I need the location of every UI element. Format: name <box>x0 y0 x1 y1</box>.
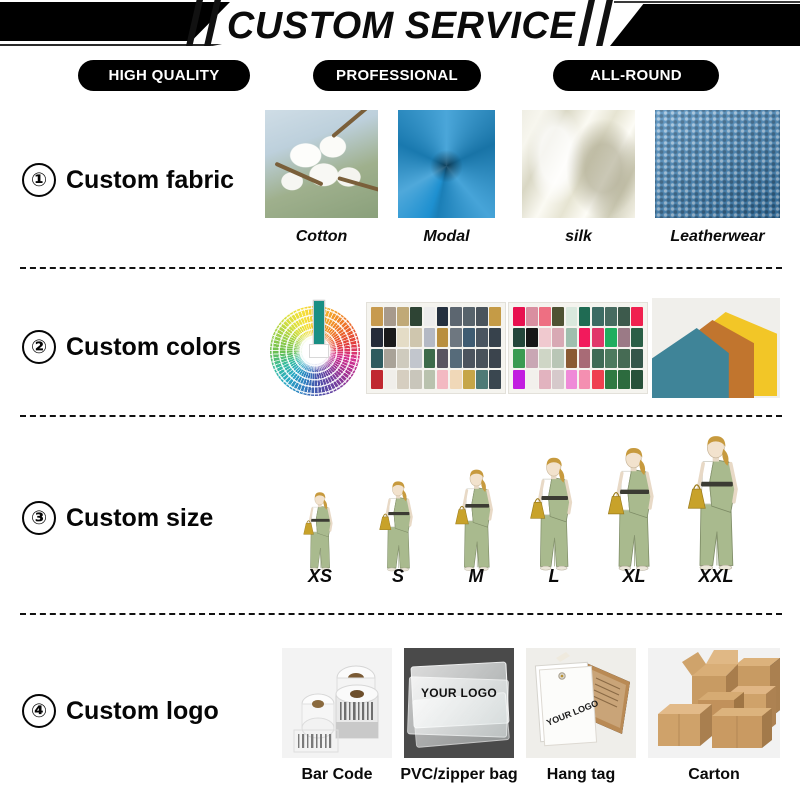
color-swatch <box>579 349 591 368</box>
color-swatch <box>371 328 383 347</box>
color-swatch <box>592 328 604 347</box>
size-caption-l: L <box>514 566 594 587</box>
color-swatch <box>476 328 488 347</box>
color-swatch <box>384 307 396 326</box>
size-caption-xxl: XXL <box>676 566 756 587</box>
size-caption-s: S <box>358 566 438 587</box>
color-swatch <box>539 349 551 368</box>
carton-boxes-illustration <box>648 648 780 758</box>
color-swatch <box>437 370 449 389</box>
logo-image-hang-tag: YOUR LOGO <box>526 648 636 758</box>
color-swatch <box>579 307 591 326</box>
row-number-1: ① <box>22 163 56 197</box>
color-swatch <box>397 349 409 368</box>
size-figure-m <box>438 468 515 572</box>
size-figure-s <box>364 480 432 572</box>
row-label-custom-logo: ④ Custom logo <box>22 694 219 728</box>
row-number-2: ② <box>22 330 56 364</box>
color-swatch <box>476 370 488 389</box>
color-swatch <box>384 349 396 368</box>
infographic-page: CUSTOM SERVICE HIGH QUALITY PROFESSIONAL… <box>0 0 800 800</box>
color-swatch <box>410 349 422 368</box>
logo-image-pvc-zipper-bag: YOUR LOGO <box>404 648 514 758</box>
color-swatch <box>424 307 436 326</box>
color-swatch <box>526 328 538 347</box>
color-swatch <box>437 307 449 326</box>
color-swatch <box>513 349 525 368</box>
color-swatch <box>450 349 462 368</box>
fabric-caption-leatherwear: Leatherwear <box>650 228 785 246</box>
color-swatch <box>489 349 501 368</box>
color-swatch <box>371 349 383 368</box>
fabric-image-modal <box>398 110 495 218</box>
size-figure-xxl <box>665 434 767 572</box>
size-figure-l <box>511 456 596 572</box>
color-swatch <box>463 349 475 368</box>
logo-image-bar-code <box>282 648 392 758</box>
logo-caption-hang-tag: Hang tag <box>526 766 636 784</box>
fabric-stack-image <box>652 298 780 398</box>
header-chevron-right <box>610 4 800 46</box>
bar-code-rolls-illustration <box>282 648 392 758</box>
color-swatch <box>592 370 604 389</box>
color-swatch <box>437 328 449 347</box>
color-swatch <box>397 328 409 347</box>
color-swatch <box>566 349 578 368</box>
color-swatch <box>579 370 591 389</box>
color-swatch <box>424 328 436 347</box>
color-swatch <box>539 307 551 326</box>
color-wheel-card <box>313 300 325 346</box>
color-swatch <box>513 328 525 347</box>
color-swatch <box>552 370 564 389</box>
color-swatch <box>463 307 475 326</box>
color-swatch <box>463 328 475 347</box>
fabric-image-silk <box>522 110 635 218</box>
color-swatch <box>424 349 436 368</box>
color-swatch <box>410 307 422 326</box>
color-swatch <box>526 370 538 389</box>
color-wheel-chip <box>309 344 329 358</box>
color-swatch <box>526 349 538 368</box>
fabric-caption-modal: Modal <box>390 228 503 246</box>
size-caption-m: M <box>436 566 516 587</box>
slash-icon <box>596 0 613 46</box>
header-rule-right <box>614 1 800 3</box>
row-title-1: Custom fabric <box>66 166 234 195</box>
color-swatch <box>410 328 422 347</box>
size-caption-xs: XS <box>280 566 360 587</box>
badge-all-round: ALL-ROUND <box>553 60 719 91</box>
color-swatch <box>631 349 643 368</box>
color-swatch <box>618 349 630 368</box>
color-swatch <box>384 328 396 347</box>
color-swatch <box>566 370 578 389</box>
color-swatch <box>463 370 475 389</box>
logo-caption-bar-code: Bar Code <box>282 766 392 784</box>
color-swatch <box>384 370 396 389</box>
color-swatch <box>618 307 630 326</box>
row-number-4: ④ <box>22 694 56 728</box>
color-swatch <box>539 328 551 347</box>
color-swatch <box>397 370 409 389</box>
divider <box>20 267 782 269</box>
color-swatch <box>605 349 617 368</box>
color-swatch <box>476 349 488 368</box>
color-swatch <box>397 307 409 326</box>
color-swatch <box>566 307 578 326</box>
color-swatch <box>526 307 538 326</box>
row-number-3: ③ <box>22 501 56 535</box>
color-swatch <box>539 370 551 389</box>
color-swatch <box>489 307 501 326</box>
row-title-2: Custom colors <box>66 333 241 362</box>
color-swatch <box>489 328 501 347</box>
color-swatch <box>552 349 564 368</box>
color-swatch <box>437 349 449 368</box>
logo-caption-carton: Carton <box>648 766 780 784</box>
color-swatch <box>605 307 617 326</box>
color-swatch <box>618 370 630 389</box>
color-swatch <box>552 328 564 347</box>
color-swatch <box>371 307 383 326</box>
header-band-left <box>0 0 240 48</box>
color-swatch <box>552 307 564 326</box>
row-title-4: Custom logo <box>66 697 219 726</box>
color-swatch <box>476 307 488 326</box>
color-swatch <box>631 307 643 326</box>
pvc-bag-logo-text: YOUR LOGO <box>404 686 514 700</box>
logo-caption-pvc-zipper-bag: PVC/zipper bag <box>392 766 526 784</box>
color-swatch <box>592 307 604 326</box>
page-title: CUSTOM SERVICE <box>238 3 564 49</box>
color-swatch <box>450 370 462 389</box>
size-figure-xs <box>290 491 350 572</box>
header-badges: HIGH QUALITY PROFESSIONAL ALL-ROUND <box>0 60 800 92</box>
color-swatch <box>566 328 578 347</box>
fabric-image-leatherwear <box>655 110 780 218</box>
color-swatch <box>513 370 525 389</box>
color-swatch-card-b <box>508 302 648 394</box>
header: CUSTOM SERVICE HIGH QUALITY PROFESSIONAL… <box>0 0 800 100</box>
fabric-caption-silk: silk <box>522 228 635 246</box>
color-swatch <box>592 349 604 368</box>
color-swatch <box>579 328 591 347</box>
row-label-custom-colors: ② Custom colors <box>22 330 241 364</box>
color-swatch <box>631 328 643 347</box>
color-swatch <box>631 370 643 389</box>
color-swatch <box>424 370 436 389</box>
slash-icon <box>578 0 595 46</box>
divider <box>20 415 782 417</box>
row-title-3: Custom size <box>66 504 213 533</box>
logo-image-carton <box>648 648 780 758</box>
fabric-caption-cotton: Cotton <box>265 228 378 246</box>
color-swatch <box>450 328 462 347</box>
divider <box>20 613 782 615</box>
color-swatch <box>410 370 422 389</box>
hang-tag-illustration: YOUR LOGO <box>526 648 636 758</box>
color-swatch <box>371 370 383 389</box>
row-label-custom-size: ③ Custom size <box>22 501 213 535</box>
fabric-image-cotton <box>265 110 378 218</box>
color-swatch <box>450 307 462 326</box>
header-band-right <box>578 0 800 48</box>
color-swatch <box>605 370 617 389</box>
color-swatch <box>605 328 617 347</box>
color-swatch-card-a <box>366 302 506 394</box>
color-swatch <box>489 370 501 389</box>
color-wheel-image <box>268 300 364 396</box>
color-swatch <box>618 328 630 347</box>
badge-high-quality: HIGH QUALITY <box>78 60 250 91</box>
badge-professional: PROFESSIONAL <box>313 60 481 91</box>
size-caption-xl: XL <box>594 566 674 587</box>
color-swatch <box>513 307 525 326</box>
row-label-custom-fabric: ① Custom fabric <box>22 163 234 197</box>
